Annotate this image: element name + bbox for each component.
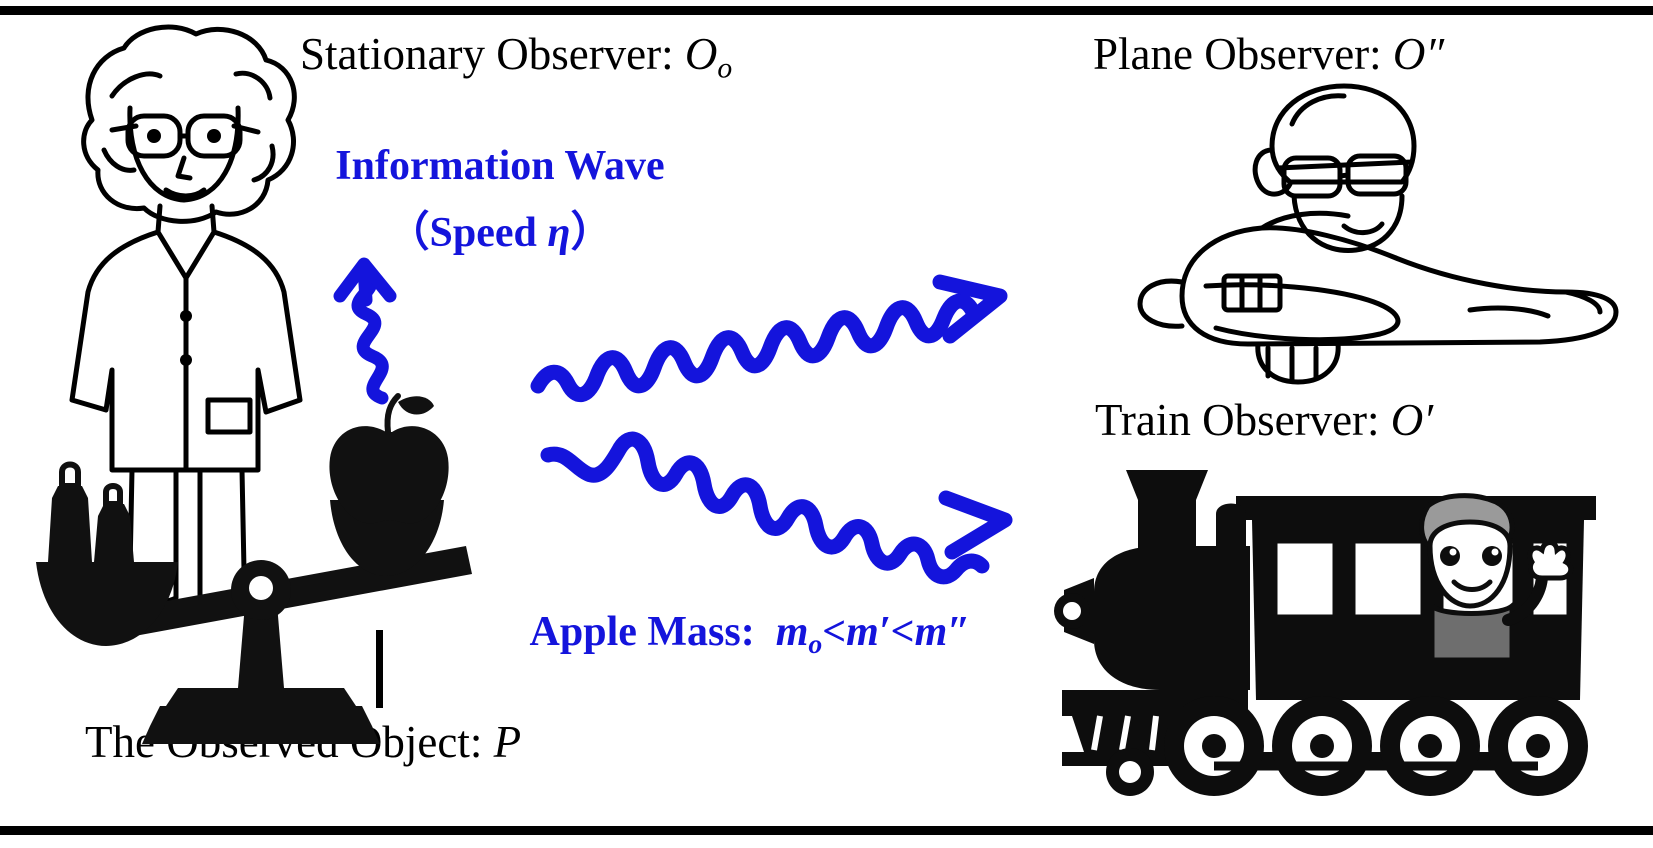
label-stationary-observer: Stationary Observer: Oo	[300, 32, 732, 84]
less-than-1: <	[822, 609, 846, 655]
mass-m-double-prime: m″	[915, 609, 971, 655]
physics-figure-canvas: Stationary Observer: Oo Plane Observer: …	[0, 0, 1653, 848]
information-wave-upper	[538, 282, 1000, 395]
prime-train: ′	[1423, 395, 1433, 445]
symbol-O-train: O	[1391, 395, 1424, 445]
bottom-border-rule	[0, 826, 1653, 835]
wave-speed-close-paren: ）	[570, 210, 612, 256]
balance-scale-illustration	[36, 396, 472, 744]
information-wave-lower	[548, 439, 1005, 577]
scientist-illustration	[72, 27, 300, 604]
upward-wave-arrow	[340, 264, 390, 398]
wave-speed-open-paren: （Speed	[388, 210, 548, 256]
symbol-O-plane: O	[1393, 29, 1426, 79]
label-stationary-observer-text: Stationary Observer:	[300, 29, 674, 79]
eta-symbol: η	[547, 210, 570, 256]
label-plane-observer-text: Plane Observer:	[1093, 29, 1382, 79]
annotation-wave-speed: （Speed η）	[0, 198, 1000, 259]
pilot-plane-illustration	[1140, 86, 1616, 382]
train-illustration	[1054, 470, 1596, 796]
subscript-o-stationary: o	[717, 52, 732, 84]
annotation-apple-mass-inequality: Apple Mass: mo<m′<m″	[430, 608, 1070, 660]
less-than-2: <	[891, 609, 915, 655]
train-boy-illustration	[1422, 496, 1571, 660]
symbol-P-object: P	[494, 717, 522, 767]
label-plane-observer: Plane Observer: O″	[1093, 32, 1444, 77]
mass-m-prime: m′	[846, 609, 890, 655]
symbol-O-stationary: O	[685, 29, 718, 79]
label-observed-object: The Observed Object: P	[85, 720, 521, 765]
pointer-bar	[376, 630, 383, 708]
mass-subscript-o: o	[808, 628, 822, 659]
annotation-information-wave-title: Information Wave	[0, 142, 1000, 190]
apple-mass-label: Apple Mass:	[530, 609, 755, 655]
label-train-observer-text: Train Observer:	[1095, 395, 1380, 445]
mass-m-stationary: m	[776, 609, 809, 655]
double-prime-plane: ″	[1425, 29, 1444, 79]
label-observed-object-text: The Observed Object:	[85, 717, 482, 767]
label-train-observer: Train Observer: O′	[1095, 398, 1433, 443]
top-border-rule	[0, 6, 1653, 15]
